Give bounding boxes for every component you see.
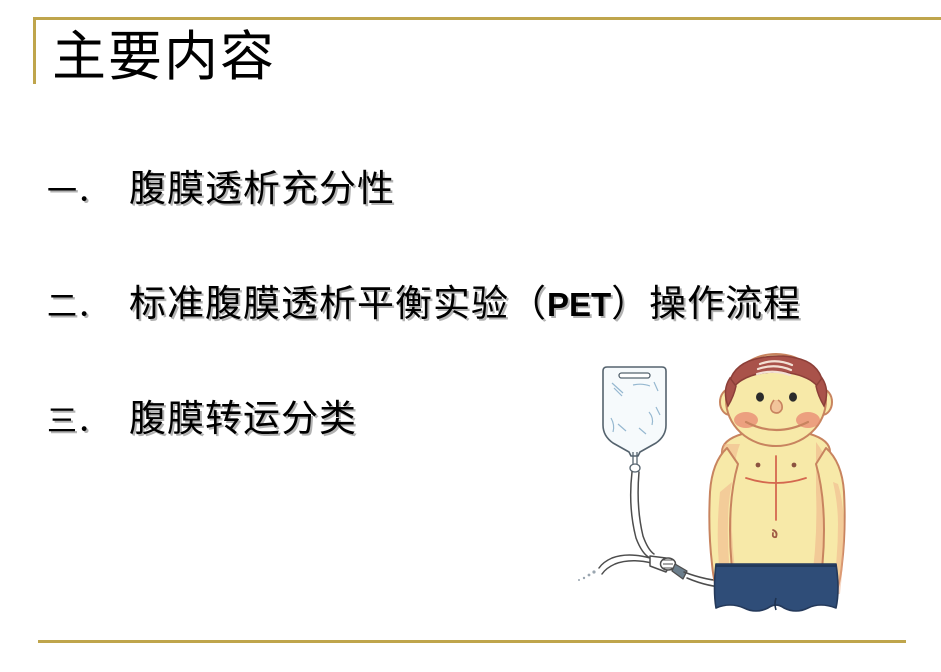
slide-canvas: 主要内容 一． 腹膜透析充分性 二． 标准腹膜透析平衡实验（PET）操作流程 三… bbox=[0, 0, 941, 672]
bag-hanger-slot bbox=[619, 373, 650, 378]
drain-limb bbox=[599, 555, 652, 574]
bottom-accent-rule bbox=[38, 640, 906, 643]
list-item-text-after: ）操作流程 bbox=[611, 284, 801, 325]
eye-right bbox=[789, 392, 797, 401]
list-item-text-before: 标准腹膜透析平衡实验（ bbox=[129, 284, 547, 325]
left-accent-rule bbox=[33, 17, 36, 84]
list-item-text-before: 腹膜透析充分性 bbox=[129, 169, 395, 210]
nipple-left bbox=[756, 463, 761, 468]
y-connector-clamp bbox=[650, 556, 687, 579]
peritoneal-dialysis-illustration bbox=[570, 352, 920, 636]
nipple-right bbox=[792, 463, 797, 468]
list-item-label: 标准腹膜透析平衡实验（PET）操作流程 bbox=[129, 283, 801, 327]
list-item-text-before: 腹膜转运分类 bbox=[129, 399, 357, 440]
list-item-acronym: PET bbox=[547, 286, 611, 323]
patient-figure bbox=[709, 354, 844, 611]
bag-outlet-port bbox=[630, 464, 640, 472]
top-accent-rule bbox=[33, 17, 941, 20]
dialysis-fluid-bag bbox=[603, 367, 666, 472]
list-item-label: 腹膜透析充分性 bbox=[129, 168, 395, 212]
nose bbox=[771, 400, 782, 413]
list-item-label: 腹膜转运分类 bbox=[129, 398, 357, 442]
page-title: 主要内容 bbox=[52, 26, 276, 88]
list-item-marker: 二． bbox=[47, 285, 129, 329]
navy-shorts bbox=[715, 564, 839, 611]
list-item-marker: 一． bbox=[47, 170, 129, 214]
list-item: 一． 腹膜透析充分性 bbox=[47, 168, 927, 283]
drip-dots bbox=[578, 570, 596, 581]
eye-left bbox=[756, 392, 764, 401]
transfer-tubing bbox=[631, 472, 654, 558]
list-item-marker: 三． bbox=[47, 400, 129, 444]
